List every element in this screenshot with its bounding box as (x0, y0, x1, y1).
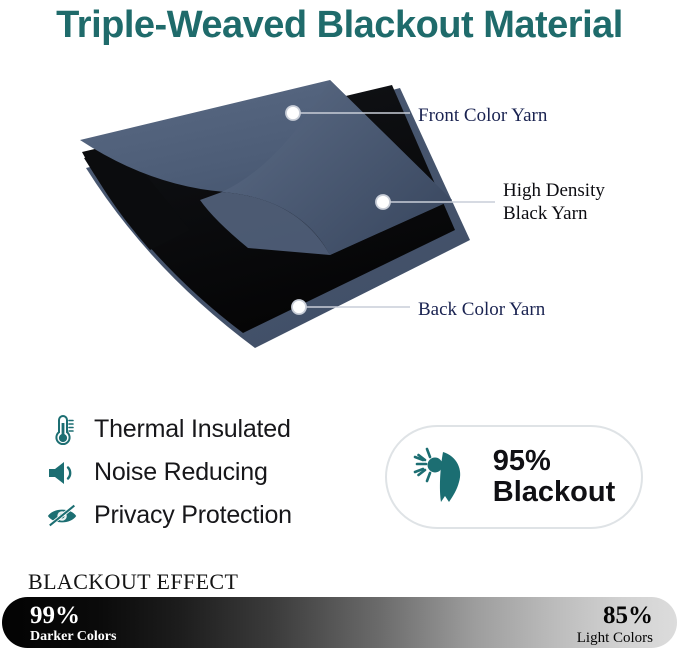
darker-colors-label: Darker Colors (30, 629, 116, 646)
blackout-label: Blackout (493, 476, 615, 508)
blackout-badge-text: 95% Blackout (493, 446, 615, 509)
feature-label: Thermal Insulated (94, 415, 291, 444)
eye-slash-icon (46, 499, 80, 533)
darker-colors-stat: 99% Darker Colors (30, 603, 116, 646)
feature-list: Thermal Insulated Noise Reducing Privacy… (46, 408, 376, 537)
blackout-percent: 95% (493, 445, 551, 477)
feature-thermal-insulated: Thermal Insulated (46, 408, 376, 451)
callout-label-line2: Black Yarn (503, 202, 605, 225)
callout-dot-front (286, 106, 300, 120)
light-colors-percent: 85% (577, 603, 653, 629)
light-colors-label: Light Colors (577, 629, 653, 647)
darker-colors-percent: 99% (30, 603, 116, 629)
callout-dot-black (376, 195, 390, 209)
feature-noise-reducing: Noise Reducing (46, 451, 376, 494)
callout-dot-back (292, 300, 306, 314)
blackout-badge: 95% Blackout (385, 425, 643, 529)
callout-label-line1: High Density (503, 179, 605, 202)
speaker-icon (46, 456, 80, 490)
page-title: Triple-Weaved Blackout Material (0, 4, 679, 47)
thermometer-icon (46, 413, 80, 447)
sun-blocked-icon (413, 446, 477, 508)
callout-label-front-color-yarn: Front Color Yarn (418, 104, 547, 127)
callout-label-high-density-black-yarn: High Density Black Yarn (503, 179, 605, 225)
feature-label: Privacy Protection (94, 501, 292, 530)
feature-privacy-protection: Privacy Protection (46, 494, 376, 537)
feature-label: Noise Reducing (94, 458, 268, 487)
blackout-effect-gradient-bar: 99% Darker Colors 85% Light Colors (2, 597, 677, 648)
callout-label-back-color-yarn: Back Color Yarn (418, 298, 545, 321)
light-colors-stat: 85% Light Colors (577, 603, 653, 647)
blackout-effect-heading: BLACKOUT EFFECT (28, 569, 238, 595)
